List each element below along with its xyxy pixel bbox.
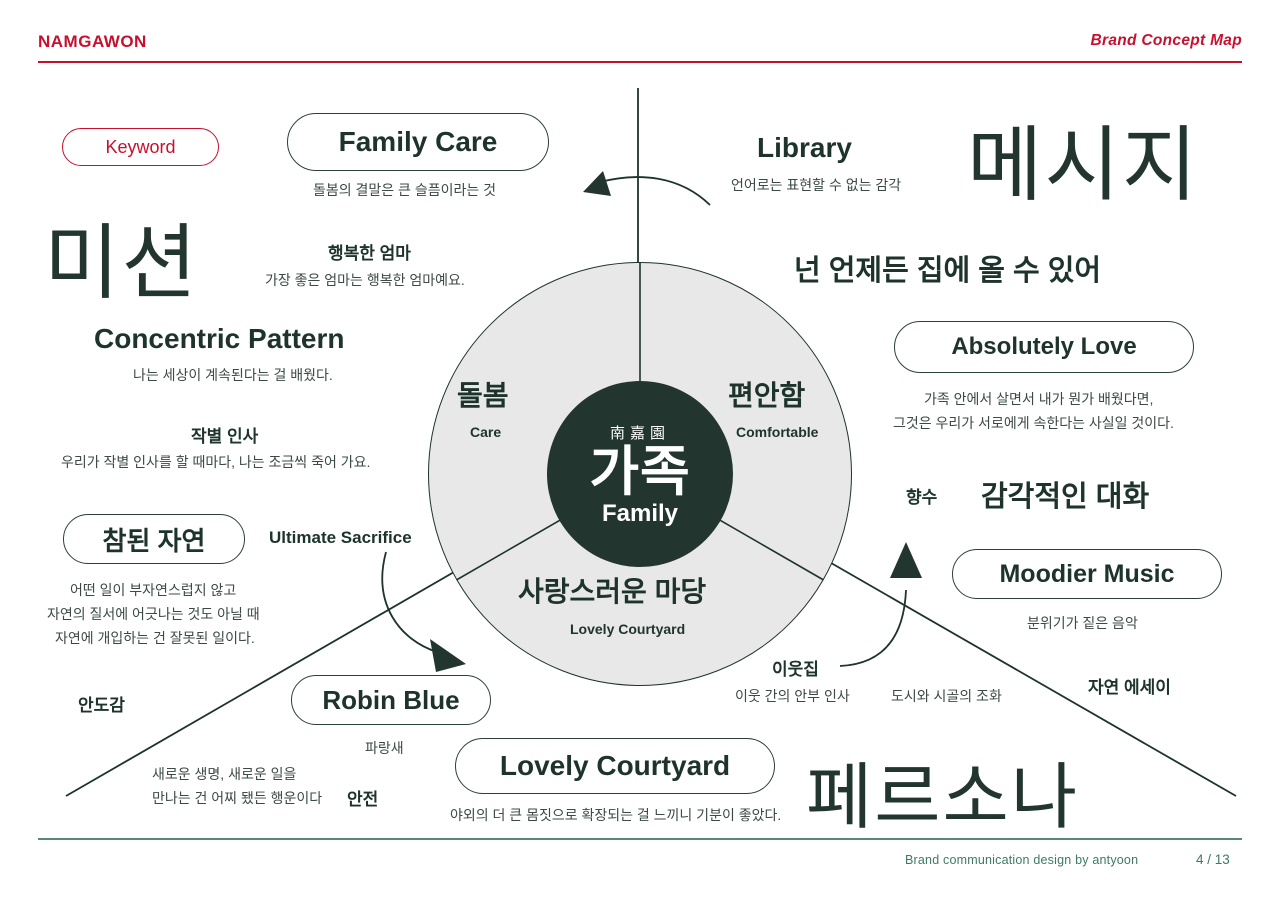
relief-label: 안도감: [78, 691, 125, 716]
brand-logo-text: NAMGAWON: [38, 32, 147, 52]
pill-moodier-music[interactable]: Moodier Music: [952, 549, 1222, 599]
pill-true-nature[interactable]: 참된 자연: [63, 514, 245, 564]
moodier-music-description: 분위기가 짙은 음악: [1027, 613, 1138, 633]
ghost-word-message: 메시지: [967, 98, 1199, 217]
pill-robin-blue[interactable]: Robin Blue: [291, 675, 491, 725]
new-life-description-line2: 만나는 건 어찌 됐든 행운이다: [152, 788, 322, 808]
sensual-talk-headline: 감각적인 대화: [981, 473, 1149, 515]
pill-family-care-label: Family Care: [339, 126, 498, 158]
pill-moodier-music-label: Moodier Music: [999, 560, 1174, 589]
segment-comfortable-kr: 편안함: [728, 374, 805, 414]
concentric-pattern-title: Concentric Pattern: [94, 323, 345, 355]
concept-map-canvas: NAMGAWON Brand Concept Map Keyword 미션 메시…: [0, 0, 1280, 905]
absolutely-love-description-line2: 그것은 우리가 서로에게 속한다는 사실일 것이다.: [893, 413, 1174, 433]
pill-lovely-courtyard-label: Lovely Courtyard: [500, 750, 730, 782]
true-nature-description-line3: 자연에 개입하는 건 잘못된 일이다.: [55, 628, 255, 648]
farewell-description: 우리가 작별 인사를 할 때마다, 나는 조금씩 죽어 가요.: [61, 452, 370, 472]
neighbor-title: 이웃집: [772, 655, 819, 680]
happy-mom-description: 가장 좋은 엄마는 행복한 엄마예요.: [265, 270, 465, 290]
page-title: Brand Concept Map: [1091, 32, 1243, 50]
segment-care-en: Care: [470, 424, 501, 440]
ultimate-sacrifice-label: Ultimate Sacrifice: [269, 528, 412, 548]
footer-page-number: 4 / 13: [1196, 852, 1230, 867]
true-nature-description-line2: 자연의 질서에 어긋나는 것도 아닐 때: [47, 604, 260, 624]
robin-blue-description: 파랑새: [365, 738, 404, 758]
safety-label: 안전: [347, 785, 378, 810]
concentric-pattern-description: 나는 세상이 계속된다는 걸 배웠다.: [133, 365, 333, 385]
nostalgia-label: 향수: [906, 483, 937, 508]
nature-essay-label: 자연 에세이: [1088, 673, 1171, 698]
pill-absolutely-love-label: Absolutely Love: [951, 333, 1136, 361]
keyword-badge-label: Keyword: [105, 137, 175, 158]
segment-comfortable-en: Comfortable: [736, 424, 818, 440]
core-label-en: Family: [602, 502, 678, 526]
segment-courtyard-en: Lovely Courtyard: [570, 621, 685, 637]
neighbor-description: 이웃 간의 안부 인사: [735, 686, 850, 706]
farewell-title: 작별 인사: [191, 422, 258, 447]
new-life-description-line1: 새로운 생명, 새로운 일을: [152, 764, 296, 784]
core-concept-circle: 南嘉園 가족 Family: [547, 381, 733, 567]
core-label-kr: 가족: [589, 445, 690, 499]
family-care-description: 돌봄의 결말은 큰 슬픔이라는 것: [313, 180, 496, 200]
absolutely-love-description-line1: 가족 안에서 살면서 내가 뭔가 배웠다면,: [924, 389, 1153, 409]
pill-absolutely-love[interactable]: Absolutely Love: [894, 321, 1194, 373]
footer-credit: Brand communication design by antyoon: [905, 853, 1138, 867]
header-divider: [38, 61, 1242, 63]
pill-robin-blue-label: Robin Blue: [322, 685, 459, 716]
happy-mom-title: 행복한 엄마: [328, 239, 411, 264]
keyword-badge[interactable]: Keyword: [62, 128, 219, 166]
footer-divider: [38, 838, 1242, 840]
library-title: Library: [757, 132, 852, 164]
pill-true-nature-label: 참된 자연: [103, 521, 206, 558]
library-description: 언어로는 표현할 수 없는 감각: [731, 175, 901, 195]
city-country-harmony-label: 도시와 시골의 조화: [891, 686, 1002, 706]
lovely-courtyard-description: 야외의 더 큰 몸짓으로 확장되는 걸 느끼니 기분이 좋았다.: [450, 805, 781, 825]
ghost-word-persona: 페르소나: [806, 738, 1079, 843]
pill-family-care[interactable]: Family Care: [287, 113, 549, 171]
segment-courtyard-kr: 사랑스러운 마당: [518, 570, 706, 610]
true-nature-description-line1: 어떤 일이 부자연스럽지 않고: [70, 580, 236, 600]
pill-lovely-courtyard[interactable]: Lovely Courtyard: [455, 738, 775, 794]
namgawon-hanja-logo: 南嘉園: [610, 422, 670, 443]
home-anytime-headline: 넌 언제든 집에 올 수 있어: [794, 247, 1101, 289]
ghost-word-mission: 미션: [44, 196, 199, 315]
segment-care-kr: 돌봄: [457, 374, 509, 414]
